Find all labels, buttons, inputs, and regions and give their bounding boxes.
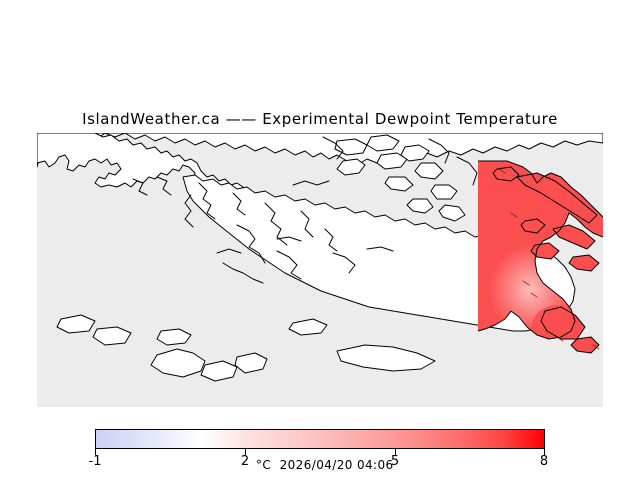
map-canvas	[37, 133, 603, 407]
colorbar-label-0: -1	[89, 454, 102, 469]
colorbar-caption: °C 2026/04/20 04:06	[256, 458, 394, 472]
forecast-map-panel	[37, 133, 603, 407]
page-title: IslandWeather.ca —— Experimental Dewpoin…	[0, 110, 640, 128]
weather-map-page: IslandWeather.ca —— Experimental Dewpoin…	[0, 0, 640, 480]
colorbar: -1 2 5 8	[95, 429, 545, 449]
colorbar-gradient	[95, 429, 545, 449]
colorbar-label-3: 8	[540, 454, 548, 469]
colorbar-label-1: 2	[241, 454, 249, 469]
